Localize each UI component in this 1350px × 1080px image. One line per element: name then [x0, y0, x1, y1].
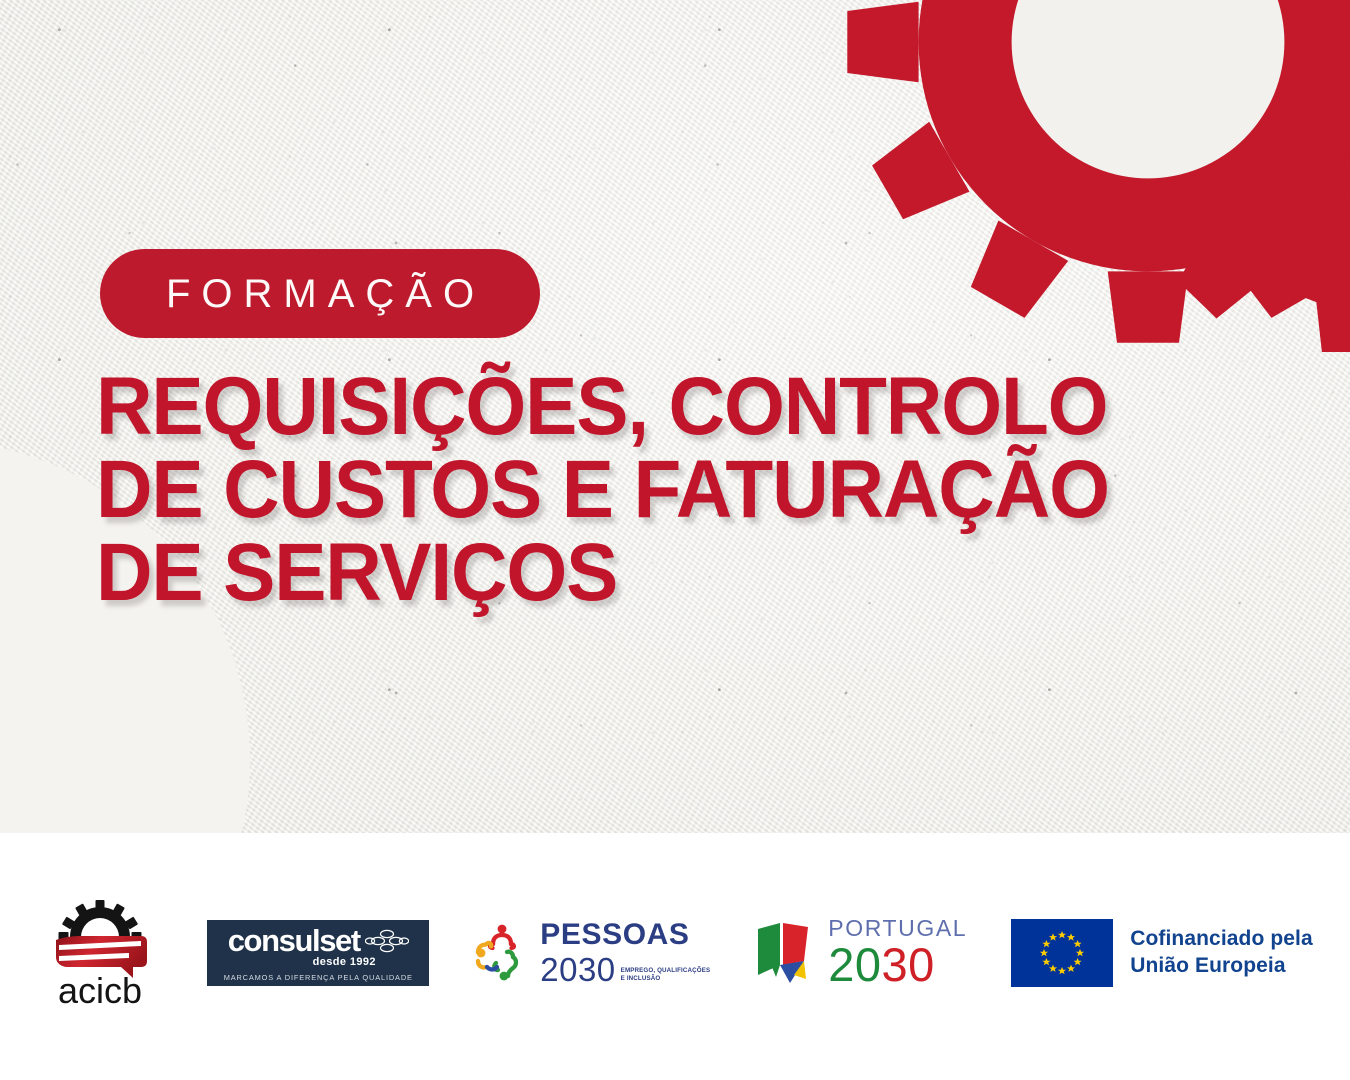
portugal-wordmark: PORTUGAL — [828, 917, 967, 940]
consulset-logo: consulset — [207, 920, 429, 986]
pessoas-year: 2030 — [540, 953, 615, 986]
consulset-tagline: MARCAMOS A DIFERENÇA PELA QUALIDADE — [224, 974, 413, 981]
logo-cofinanciado-ue: Cofinanciado pela União Europeia — [1011, 916, 1313, 990]
acicb-gear-icon — [59, 900, 142, 941]
portugal-flag-mark-icon — [754, 917, 820, 989]
formacao-badge: FORMAÇÃO — [100, 249, 540, 338]
eu-flag-icon — [1011, 919, 1113, 987]
poster-canvas: FORMAÇÃO REQUISIÇÕES, CONTROLO DE CUSTOS… — [0, 0, 1350, 1080]
hero-section: FORMAÇÃO REQUISIÇÕES, CONTROLO DE CUSTOS… — [0, 0, 1350, 833]
portugal-2030-logo: PORTUGAL 2030 — [754, 914, 967, 992]
consulset-wordmark: consulset — [228, 925, 360, 956]
logo-acicb: acicb — [37, 899, 163, 1007]
pessoas-tagline: EMPREGO, QUALIFICAÇÕES E INCLUSÃO — [621, 967, 711, 986]
pessoas-2030-logo: PESSOAS 2030 EMPREGO, QUALIFICAÇÕES E IN… — [473, 915, 710, 991]
eu-cofinancing-text: Cofinanciado pela União Europeia — [1130, 926, 1313, 979]
logo-pessoas-2030: PESSOAS 2030 EMPREGO, QUALIFICAÇÕES E IN… — [473, 915, 710, 991]
eu-cofinancing-logo: Cofinanciado pela União Europeia — [1011, 916, 1313, 990]
formacao-badge-label: FORMAÇÃO — [155, 274, 485, 314]
consulset-diamond-icon — [365, 928, 409, 954]
pessoas-wordmark: PESSOAS — [540, 920, 710, 950]
footer-section: acicb consulset — [0, 833, 1350, 1080]
acicb-wordmark: acicb — [58, 970, 142, 1007]
title-line-3: DE SERVIÇOS — [96, 532, 1223, 613]
consulset-since: desde 1992 — [313, 957, 376, 968]
page-title: REQUISIÇÕES, CONTROLO DE CUSTOS E FATURA… — [96, 366, 1276, 616]
portugal-year-first: 20 — [828, 938, 881, 991]
sponsor-logo-strip: acicb consulset — [0, 833, 1350, 1080]
logo-consulset: consulset — [207, 920, 429, 986]
pessoas-figures-icon — [473, 921, 531, 985]
logo-portugal-2030: PORTUGAL 2030 — [754, 914, 967, 992]
portugal-year-second: 30 — [882, 938, 935, 991]
title-line-2: DE CUSTOS E FATURAÇÃO — [96, 449, 1223, 530]
title-line-1: REQUISIÇÕES, CONTROLO — [96, 366, 1223, 447]
acicb-logo: acicb — [37, 899, 163, 1007]
